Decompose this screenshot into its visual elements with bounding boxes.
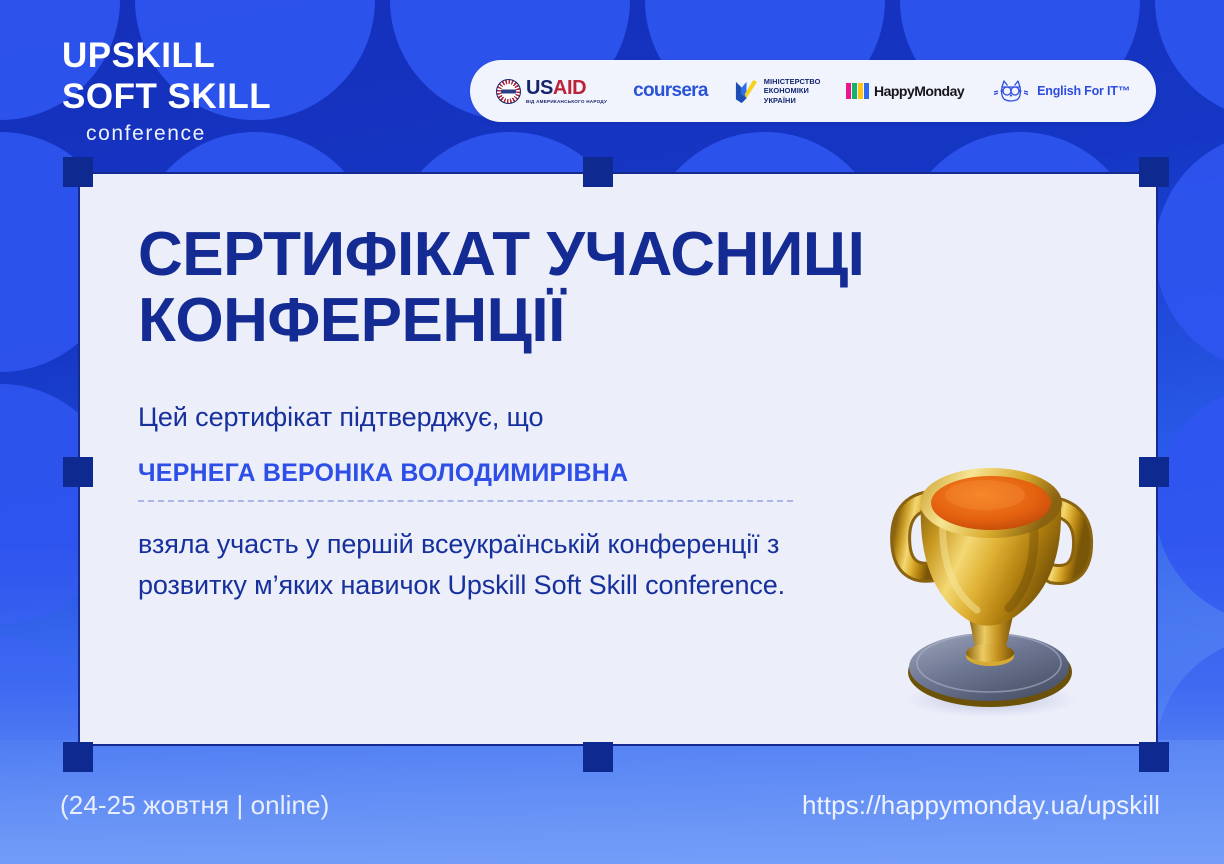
event-dates: (24-25 жовтня | online) bbox=[60, 790, 329, 821]
selection-handle-top-left[interactable] bbox=[63, 157, 93, 187]
certificate-card: СЕРТИФІКАТ УЧАСНИЦІ КОНФЕРЕНЦІЇ Цей серт… bbox=[78, 172, 1158, 746]
selection-handle-bottom-left[interactable] bbox=[63, 742, 93, 772]
certificate-body: Цей сертифікат підтверджує, що ЧЕРНЕГА В… bbox=[138, 403, 798, 607]
event-url[interactable]: https://happymonday.ua/upskill bbox=[802, 790, 1160, 821]
sponsor-ministry-of-economy: МІНІСТЕРСТВО ЕКОНОМІКИ УКРАЇНИ bbox=[734, 77, 821, 105]
selection-handle-top-right[interactable] bbox=[1139, 157, 1169, 187]
selection-handle-middle-left[interactable] bbox=[63, 457, 93, 487]
ministry-wordmark: МІНІСТЕРСТВО ЕКОНОМІКИ УКРАЇНИ bbox=[764, 77, 821, 105]
sponsor-english-for-it: English For IT™ bbox=[990, 78, 1130, 104]
happymonday-wordmark: HappyMonday bbox=[874, 83, 964, 99]
selection-handle-bottom-right[interactable] bbox=[1139, 742, 1169, 772]
color-bars-icon bbox=[846, 83, 869, 99]
usaid-tagline: ВІД АМЕРИКАНСЬКОГО НАРОДУ bbox=[526, 100, 607, 105]
recipient-name: ЧЕРНЕГА ВЕРОНІКА ВОЛОДИМИРІВНА bbox=[138, 459, 793, 502]
checkmark-flag-icon bbox=[734, 79, 759, 104]
brand-subtitle: conference bbox=[86, 122, 271, 146]
page-title: СЕРТИФІКАТ УЧАСНИЦІ КОНФЕРЕНЦІЇ bbox=[138, 222, 1038, 355]
usaid-wordmark: USAID ВІД АМЕРИКАНСЬКОГО НАРОДУ bbox=[526, 78, 607, 105]
trophy-icon bbox=[873, 450, 1108, 722]
ministry-line-1: МІНІСТЕРСТВО bbox=[764, 77, 821, 86]
brand-line-2: SOFT SKILL bbox=[62, 77, 271, 118]
usaid-name-aid: AID bbox=[553, 77, 586, 99]
certificate-lead-text: Цей сертифікат підтверджує, що bbox=[138, 403, 798, 433]
brand-logo: UPSKILL SOFT SKILL conference bbox=[62, 36, 271, 146]
english-for-it-wordmark: English For IT™ bbox=[1037, 84, 1130, 98]
cat-glasses-icon bbox=[990, 78, 1032, 104]
selection-handle-bottom-center[interactable] bbox=[583, 742, 613, 772]
brand-line-1: UPSKILL bbox=[62, 36, 271, 77]
selection-handle-middle-right[interactable] bbox=[1139, 457, 1169, 487]
sponsor-usaid: USAID ВІД АМЕРИКАНСЬКОГО НАРОДУ bbox=[496, 78, 607, 105]
usaid-seal-icon bbox=[496, 79, 521, 104]
certificate-card-content: СЕРТИФІКАТ УЧАСНИЦІ КОНФЕРЕНЦІЇ Цей серт… bbox=[80, 174, 1156, 744]
usaid-name-us: US bbox=[526, 77, 553, 99]
ministry-line-3: УКРАЇНИ bbox=[764, 96, 821, 105]
sponsor-happymonday: HappyMonday bbox=[846, 83, 964, 99]
sponsor-bar: USAID ВІД АМЕРИКАНСЬКОГО НАРОДУ coursera… bbox=[470, 60, 1156, 122]
coursera-wordmark: coursera bbox=[633, 80, 708, 102]
ministry-line-2: ЕКОНОМІКИ bbox=[764, 86, 821, 95]
selection-handle-top-center[interactable] bbox=[583, 157, 613, 187]
certificate-poster: UPSKILL SOFT SKILL conference USAID ВІД … bbox=[0, 0, 1224, 864]
certificate-description: взяла участь у першій всеукраїнській кон… bbox=[138, 524, 798, 606]
sponsor-coursera: coursera bbox=[633, 80, 708, 102]
